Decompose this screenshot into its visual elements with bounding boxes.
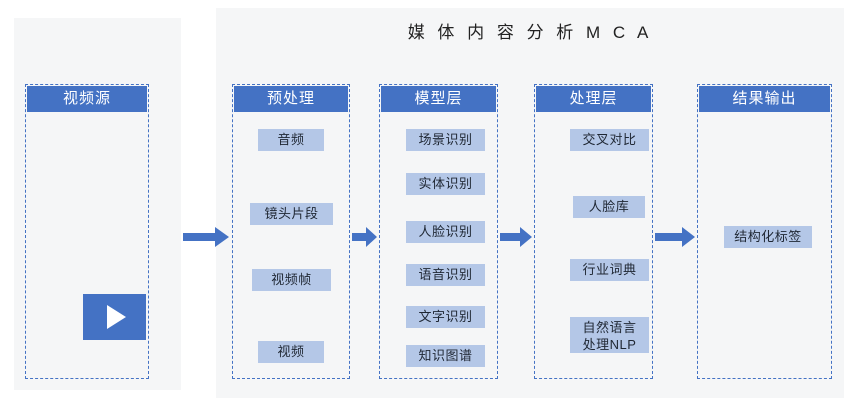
play-button-icon[interactable]: [83, 294, 146, 340]
node-knowledge-graph[interactable]: 知识图谱: [406, 345, 485, 367]
node-video[interactable]: 视频: [258, 341, 324, 363]
stage-header-result-output: 结果输出: [699, 86, 830, 112]
node-face-recognition[interactable]: 人脸识别: [406, 221, 485, 243]
stage-video-source: 视频源: [25, 84, 149, 379]
node-nlp-label-line-1: 自然语言: [570, 319, 649, 336]
diagram-canvas: 媒 体 内 容 分 析 M C A 视频源 预处理 音频 镜头片段 视频帧 视频…: [0, 0, 859, 411]
node-scene-recognition[interactable]: 场景识别: [406, 129, 485, 151]
node-nlp[interactable]: 自然语言 处理NLP: [570, 317, 649, 353]
node-structured-tags[interactable]: 结构化标签: [724, 226, 812, 248]
stage-header-processing-layer: 处理层: [536, 86, 651, 112]
stage-header-preprocessing: 预处理: [234, 86, 348, 112]
node-video-frame[interactable]: 视频帧: [252, 269, 331, 291]
node-speech-recognition[interactable]: 语音识别: [406, 264, 485, 286]
node-entity-recognition[interactable]: 实体识别: [406, 173, 485, 195]
node-shot-segment[interactable]: 镜头片段: [250, 203, 333, 225]
node-audio[interactable]: 音频: [258, 129, 324, 151]
stage-header-model-layer: 模型层: [381, 86, 496, 112]
arrow-right-icon-process-to-output: [655, 226, 695, 248]
node-text-recognition[interactable]: 文字识别: [406, 306, 485, 328]
node-face-database[interactable]: 人脸库: [573, 196, 645, 218]
arrow-right-icon-preprocess-to-model: [352, 226, 377, 248]
node-nlp-label-line-2: 处理NLP: [570, 336, 649, 353]
stage-header-video-source: 视频源: [27, 86, 147, 112]
node-cross-comparison[interactable]: 交叉对比: [570, 129, 649, 151]
arrow-right-icon-model-to-process: [500, 226, 532, 248]
page-title: 媒 体 内 容 分 析 M C A: [216, 18, 844, 43]
play-triangle-glyph: [107, 305, 126, 329]
arrow-right-icon-source-to-preprocess: [183, 226, 229, 248]
node-industry-lexicon[interactable]: 行业词典: [570, 259, 649, 281]
